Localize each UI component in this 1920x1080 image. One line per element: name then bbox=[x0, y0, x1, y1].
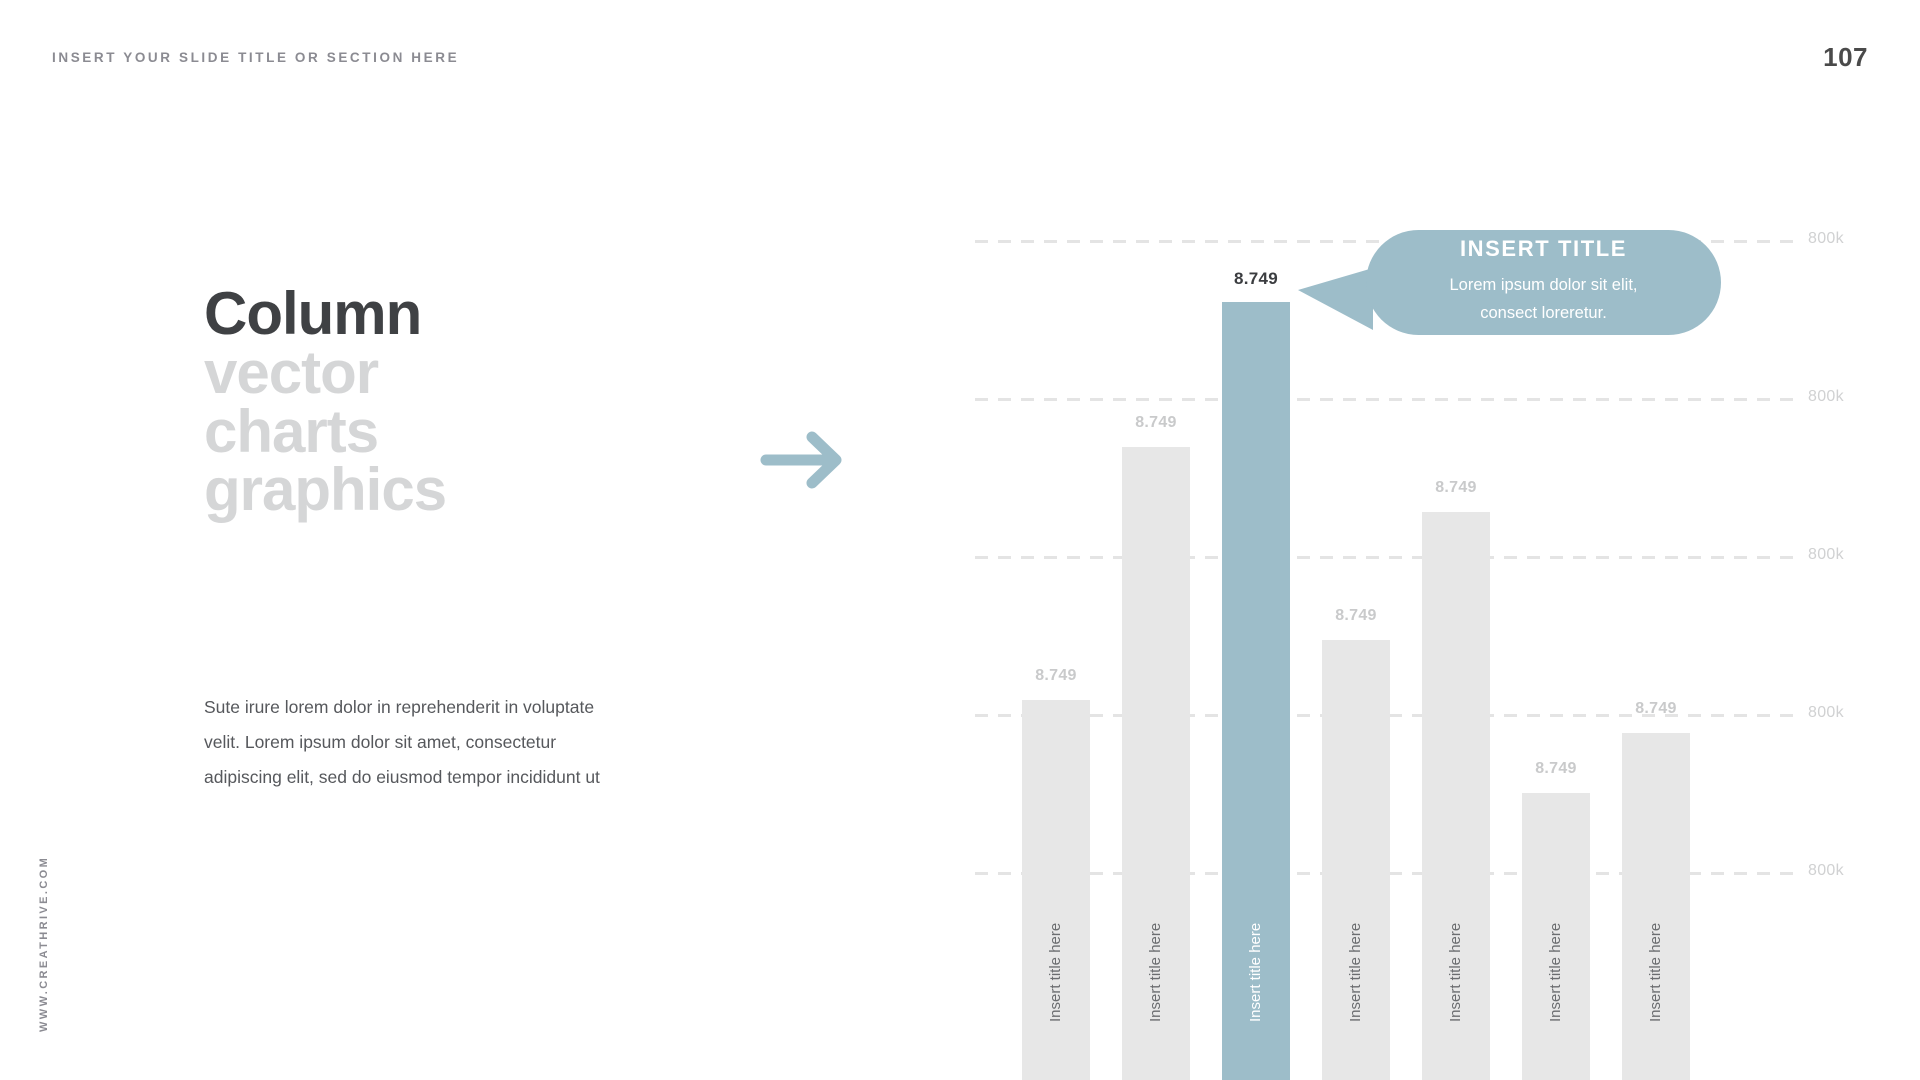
y-axis-tick-label: 800k bbox=[1808, 230, 1844, 248]
chart-bar[interactable] bbox=[1022, 700, 1090, 1080]
bar-category-label: Insert title here bbox=[1147, 802, 1164, 1022]
chart-bar[interactable] bbox=[1322, 640, 1390, 1080]
headline-line-4: graphics bbox=[204, 461, 624, 520]
callout-tail-icon bbox=[1298, 268, 1373, 330]
callout-title: INSERT TITLE bbox=[1460, 236, 1627, 262]
arrow-right-icon bbox=[760, 425, 848, 500]
bar-category-label: Insert title here bbox=[1647, 802, 1664, 1022]
bar-category-label: Insert title here bbox=[1347, 802, 1364, 1022]
chart-bar[interactable] bbox=[1422, 512, 1490, 1080]
page-number: 107 bbox=[1823, 42, 1868, 73]
gridline bbox=[975, 398, 1795, 401]
callout-body-line-2: consect loreretur. bbox=[1450, 299, 1638, 327]
headline-line-1: Column bbox=[204, 285, 624, 344]
bar-value-label: 8.749 bbox=[1096, 414, 1216, 432]
callout-bubble[interactable]: INSERT TITLE Lorem ipsum dolor sit elit,… bbox=[1366, 230, 1721, 335]
slide-header-label: INSERT YOUR SLIDE TITLE OR SECTION HERE bbox=[52, 50, 459, 65]
headline-line-2: vector bbox=[204, 344, 624, 403]
bar-value-label: 8.749 bbox=[996, 667, 1116, 685]
y-axis-tick-label: 800k bbox=[1808, 704, 1844, 722]
callout-body: Lorem ipsum dolor sit elit, consect lore… bbox=[1450, 271, 1638, 328]
column-chart: 800k800k800k800k800k8.749Insert title he… bbox=[0, 0, 1920, 1080]
chart-bar[interactable] bbox=[1122, 447, 1190, 1080]
site-url-watermark: WWW.CREATHRIVE.COM bbox=[38, 856, 50, 1032]
y-axis-tick-label: 800k bbox=[1808, 388, 1844, 406]
y-axis-tick-label: 800k bbox=[1808, 546, 1844, 564]
chart-bar[interactable] bbox=[1622, 733, 1690, 1080]
gridline bbox=[975, 556, 1795, 559]
chart-bar[interactable] bbox=[1522, 793, 1590, 1080]
y-axis-tick-label: 800k bbox=[1808, 862, 1844, 880]
body-paragraph: Sute irure lorem dolor in reprehenderit … bbox=[204, 690, 604, 795]
bar-value-label: 8.749 bbox=[1496, 760, 1616, 778]
bar-category-label: Insert title here bbox=[1047, 802, 1064, 1022]
bar-value-label: 8.749 bbox=[1296, 607, 1416, 625]
bar-category-label: Insert title here bbox=[1547, 802, 1564, 1022]
callout-body-line-1: Lorem ipsum dolor sit elit, bbox=[1450, 271, 1638, 299]
chart-bar[interactable] bbox=[1222, 302, 1290, 1080]
gridline bbox=[975, 872, 1795, 875]
gridline bbox=[975, 714, 1795, 717]
bar-category-label: Insert title here bbox=[1247, 802, 1264, 1022]
bar-category-label: Insert title here bbox=[1447, 802, 1464, 1022]
headline-block: Column vector charts graphics bbox=[204, 285, 624, 520]
headline-line-3: charts bbox=[204, 403, 624, 462]
bar-value-label: 8.749 bbox=[1396, 479, 1516, 497]
bar-value-label: 8.749 bbox=[1596, 700, 1716, 718]
